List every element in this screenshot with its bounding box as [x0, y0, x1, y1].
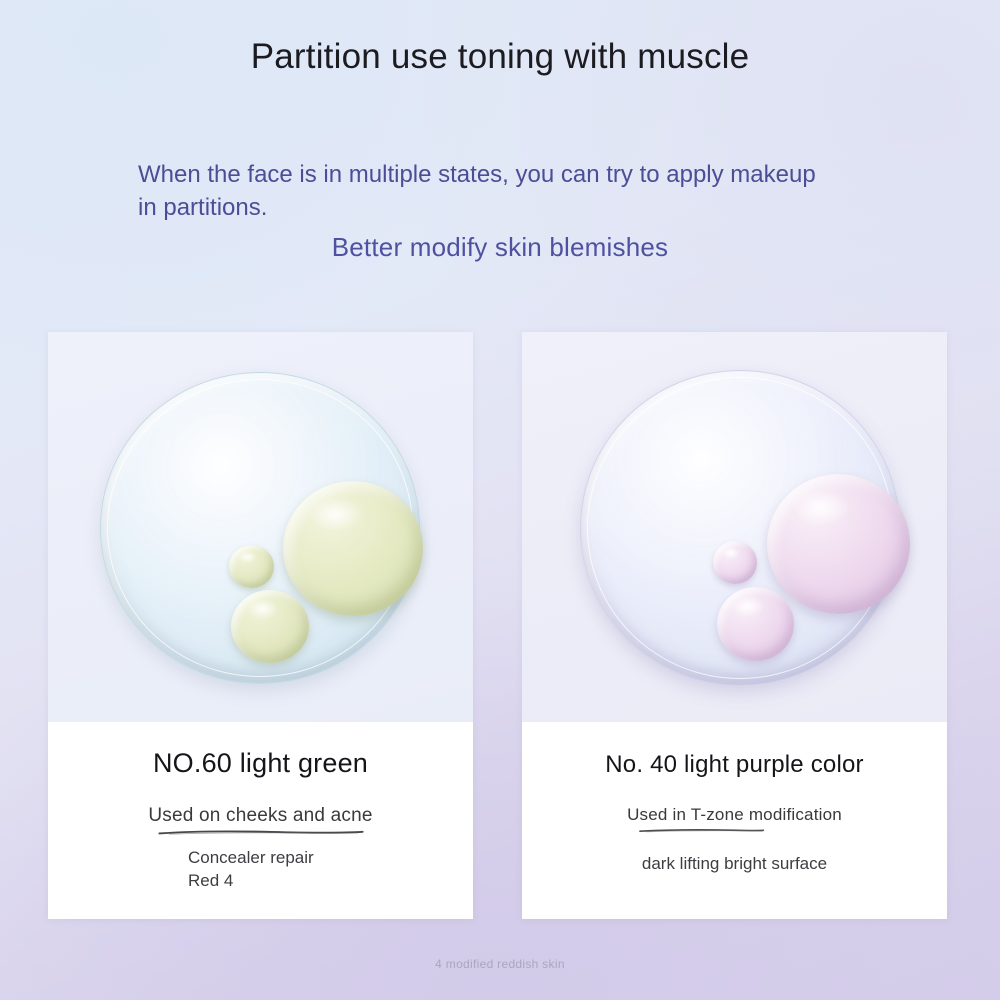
usage-group: Used in T-zone modification [619, 805, 851, 833]
header-tagline: Better modify skin blemishes [0, 232, 1000, 263]
droplet-large [283, 481, 423, 616]
droplet-highlight [793, 489, 850, 525]
droplet-small [713, 541, 757, 584]
droplet-small [229, 545, 274, 588]
droplet-large [767, 474, 910, 614]
swatch-image-light-green [48, 332, 473, 722]
detail-line-2: Red 4 [48, 869, 473, 892]
droplet-highlight [732, 596, 764, 617]
detail-line-1: Concealer repair [48, 846, 473, 869]
droplet-medium [717, 587, 794, 661]
usage-group: Used on cheeks and acne [137, 805, 385, 835]
shade-name-label: NO.60 light green [48, 722, 473, 779]
droplet-highlight [308, 497, 364, 532]
card-caption-light-green: NO.60 light green Used on cheeks and acn… [48, 722, 473, 919]
poster-canvas: Partition use toning with muscle When th… [0, 0, 1000, 1000]
card-caption-light-purple: No. 40 light purple color Used in T-zone… [522, 722, 947, 919]
swatch-image-light-purple [522, 332, 947, 722]
detail-line-1: dark lifting bright surface [522, 852, 947, 875]
page-title: Partition use toning with muscle [0, 0, 1000, 77]
product-card-light-purple[interactable]: No. 40 light purple color Used in T-zone… [522, 332, 947, 919]
header-block: Partition use toning with muscle [0, 0, 1000, 77]
droplet-highlight [722, 547, 740, 559]
petri-dish-icon [100, 372, 420, 684]
usage-label: Used in T-zone modification [627, 805, 842, 824]
footer-note: 4 modified reddish skin [0, 957, 1000, 971]
brush-underline-icon [619, 828, 851, 833]
header-subtitle: When the face is in multiple states, you… [138, 158, 838, 224]
shade-name-label: No. 40 light purple color [522, 722, 947, 779]
droplet-medium [231, 590, 309, 663]
product-card-light-green[interactable]: NO.60 light green Used on cheeks and acn… [48, 332, 473, 919]
brush-underline-icon [137, 830, 385, 835]
droplet-highlight [247, 599, 280, 619]
usage-label: Used on cheeks and acne [148, 805, 372, 826]
petri-dish-icon [580, 370, 900, 686]
droplet-highlight [238, 551, 257, 563]
